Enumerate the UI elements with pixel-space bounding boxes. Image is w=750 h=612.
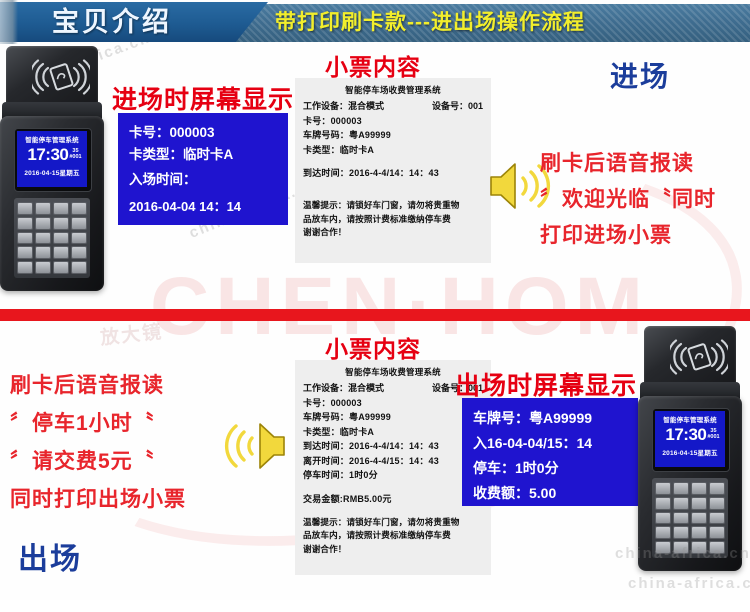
receipt-spacer bbox=[303, 483, 483, 492]
keypad-key[interactable] bbox=[35, 202, 51, 215]
device-screen-time: 17:30 bbox=[665, 425, 706, 445]
keypad-key[interactable] bbox=[71, 202, 87, 215]
receipt-note-line-1: 温馨提示：请锁好车门窗，请勿将贵重物 bbox=[303, 516, 483, 530]
keypad-key[interactable] bbox=[71, 217, 87, 230]
keypad-key[interactable] bbox=[673, 526, 689, 539]
entry-heading: 进场 bbox=[610, 55, 670, 95]
entry-lcd-card-type: 卡类型：临时卡A bbox=[129, 144, 288, 166]
device-screen-frame: 智能停车管理系统 17:30 35 #001 2016-04-15星期五 bbox=[14, 128, 92, 192]
rfid-card-wave-icon bbox=[670, 336, 728, 378]
device-lcd-screen: 智能停车管理系统 17:30 35 #001 2016-04-15星期五 bbox=[17, 131, 87, 187]
keypad-key[interactable] bbox=[709, 541, 725, 554]
exit-desc-line-2: 〞停车1小时〝 bbox=[10, 408, 155, 441]
keypad-key[interactable] bbox=[71, 261, 87, 274]
exit-desc-line-1: 刷卡后语音报读 bbox=[10, 370, 164, 403]
keypad-key[interactable] bbox=[53, 261, 69, 274]
receipt-note-line-3: 谢谢合作！ bbox=[303, 543, 483, 557]
exit-lcd-plate: 车牌号：粤A99999 bbox=[473, 406, 638, 431]
exit-desc-line-4: 同时打印出场小票 bbox=[10, 484, 186, 517]
keypad-key[interactable] bbox=[53, 232, 69, 245]
banner-title: 宝贝介绍 bbox=[52, 3, 252, 41]
device-lcd-screen: 智能停车管理系统 17:30 35 #001 2016-04-15星期五 bbox=[655, 411, 725, 467]
watermark-magnify: 放大镜 bbox=[99, 317, 164, 350]
keypad-key[interactable] bbox=[53, 246, 69, 259]
keypad-key[interactable] bbox=[709, 526, 725, 539]
keypad-key[interactable] bbox=[655, 497, 671, 510]
receipt-note-line-3: 谢谢合作！ bbox=[303, 226, 483, 240]
keypad-key[interactable] bbox=[17, 246, 33, 259]
keypad-key[interactable] bbox=[673, 497, 689, 510]
exit-desc-line-3: 〞请交费5元〝 bbox=[10, 446, 155, 479]
keypad-key[interactable] bbox=[709, 482, 725, 495]
receipt-spacer bbox=[303, 157, 483, 166]
receipt-card-type: 卡类型：临时卡A bbox=[303, 425, 483, 440]
keypad-key[interactable] bbox=[17, 261, 33, 274]
exit-receipt-title: 小票内容 bbox=[325, 330, 421, 364]
device-screen-id: #001 bbox=[69, 154, 81, 160]
receipt-note-line-1: 温馨提示：请锁好车门窗，请勿将贵重物 bbox=[303, 199, 483, 213]
keypad-key[interactable] bbox=[691, 497, 707, 510]
banner-subtitle: 带打印刷卡款---进出场操作流程 bbox=[275, 4, 585, 42]
keypad-key[interactable] bbox=[35, 246, 51, 259]
receipt-card-type: 卡类型：临时卡A bbox=[303, 143, 483, 158]
keypad-key[interactable] bbox=[655, 512, 671, 525]
device-rfid-head bbox=[644, 326, 736, 388]
device-rfid-head bbox=[6, 46, 98, 108]
entry-lcd-time-value: 2016-04-04 14：14 bbox=[129, 196, 288, 217]
keypad-key[interactable] bbox=[17, 217, 33, 230]
device-keypad[interactable] bbox=[652, 478, 728, 558]
device-screen-frame: 智能停车管理系统 17:30 35 #001 2016-04-15星期五 bbox=[652, 408, 730, 472]
entry-receipt-panel: 智能停车场收费管理系统 工作设备：混合模式 设备号：001 卡号：000003 … bbox=[295, 78, 491, 263]
keypad-key[interactable] bbox=[53, 202, 69, 215]
keypad-key[interactable] bbox=[673, 541, 689, 554]
receipt-arrive-time: 到达时间：2016-4-4/14：14：43 bbox=[303, 166, 483, 181]
exit-lcd-duration: 停车：1时0分 bbox=[473, 456, 638, 481]
section-divider bbox=[0, 309, 750, 321]
receipt-leave-time: 离开时间：2016-4-4/15：14：43 bbox=[303, 454, 483, 469]
receipt-note-line-2: 品放车内，请按照计费标准缴纳停车费 bbox=[303, 529, 483, 543]
rfid-card-wave-icon bbox=[32, 56, 90, 98]
keypad-key[interactable] bbox=[53, 217, 69, 230]
keypad-key[interactable] bbox=[655, 541, 671, 554]
entry-desc-line-3: 打印进场小票 bbox=[540, 220, 672, 253]
keypad-key[interactable] bbox=[655, 526, 671, 539]
keypad-key[interactable] bbox=[71, 232, 87, 245]
receipt-amount: 交易金额:RMB5.00元 bbox=[303, 492, 483, 507]
entry-display-title: 进场时屏幕显示 bbox=[112, 80, 294, 116]
entry-lcd-time-label: 入场时间： bbox=[129, 169, 288, 191]
pos-terminal-device-entry: 智能停车管理系统 17:30 35 #001 2016-04-15星期五 bbox=[0, 46, 110, 301]
keypad-key[interactable] bbox=[673, 512, 689, 525]
receipt-plate: 车牌号码：粤A99999 bbox=[303, 410, 483, 425]
header-banner: 宝贝介绍 带打印刷卡款---进出场操作流程 bbox=[0, 0, 750, 44]
device-screen-id: #001 bbox=[707, 434, 719, 440]
exit-lcd-panel: 车牌号：粤A99999 入16-04-04/15：14 停车：1时0分 收费额：… bbox=[462, 398, 638, 506]
device-screen-title: 智能停车管理系统 bbox=[655, 414, 725, 424]
keypad-key[interactable] bbox=[35, 232, 51, 245]
keypad-key[interactable] bbox=[17, 232, 33, 245]
device-screen-time: 17:30 bbox=[27, 145, 68, 165]
device-keypad[interactable] bbox=[14, 198, 90, 278]
entry-lcd-card-no: 卡号：000003 bbox=[129, 122, 288, 144]
receipt-work-mode: 工作设备：混合模式 bbox=[303, 381, 384, 396]
keypad-key[interactable] bbox=[709, 512, 725, 525]
keypad-key[interactable] bbox=[691, 541, 707, 554]
keypad-key[interactable] bbox=[691, 512, 707, 525]
entry-desc-line-2: 〞欢迎光临〝同时 bbox=[540, 184, 716, 217]
receipt-note-line-2: 品放车内，请按照计费标准缴纳停车费 bbox=[303, 213, 483, 227]
keypad-key[interactable] bbox=[673, 482, 689, 495]
keypad-key[interactable] bbox=[709, 497, 725, 510]
device-screen-title: 智能停车管理系统 bbox=[17, 134, 87, 144]
keypad-key[interactable] bbox=[35, 261, 51, 274]
keypad-key[interactable] bbox=[71, 246, 87, 259]
receipt-spacer bbox=[303, 507, 483, 516]
device-screen-date: 2016-04-15星期五 bbox=[655, 447, 725, 457]
exit-speaker-sound-icon bbox=[220, 415, 288, 477]
entry-receipt-title: 小票内容 bbox=[325, 48, 421, 82]
entry-desc-line-1: 刷卡后语音报读 bbox=[540, 148, 694, 181]
exit-lcd-entry-time: 入16-04-04/15：14 bbox=[473, 431, 638, 456]
receipt-spacer bbox=[303, 190, 483, 199]
receipt-plate: 车牌号码：粤A99999 bbox=[303, 128, 483, 143]
receipt-card-no: 卡号：000003 bbox=[303, 114, 483, 129]
keypad-key[interactable] bbox=[691, 526, 707, 539]
receipt-device-no: 设备号：001 bbox=[432, 99, 483, 114]
device-screen-date: 2016-04-15星期五 bbox=[17, 167, 87, 177]
receipt-duration: 停车时间：1时0分 bbox=[303, 468, 483, 483]
entry-lcd-panel: 卡号：000003 卡类型：临时卡A 入场时间： 2016-04-04 14：1… bbox=[118, 113, 288, 225]
banner-left-edge-highlight bbox=[0, 0, 18, 44]
exit-lcd-fee: 收费额：5.00 bbox=[473, 481, 638, 506]
receipt-work-mode: 工作设备：混合模式 bbox=[303, 99, 384, 114]
exit-display-title: 出场时屏幕显示 bbox=[455, 366, 637, 402]
pos-terminal-device-exit: 智能停车管理系统 17:30 35 #001 2016-04-15星期五 bbox=[636, 326, 748, 591]
keypad-key[interactable] bbox=[655, 482, 671, 495]
receipt-header: 智能停车场收费管理系统 bbox=[303, 84, 483, 96]
keypad-key[interactable] bbox=[17, 202, 33, 215]
receipt-arrive-time: 到达时间：2016-4-4/14：14：43 bbox=[303, 439, 483, 454]
keypad-key[interactable] bbox=[691, 482, 707, 495]
exit-heading: 出场 bbox=[18, 534, 82, 578]
receipt-device-row: 工作设备：混合模式 设备号：001 bbox=[303, 99, 483, 114]
keypad-key[interactable] bbox=[35, 217, 51, 230]
receipt-spacer bbox=[303, 181, 483, 190]
